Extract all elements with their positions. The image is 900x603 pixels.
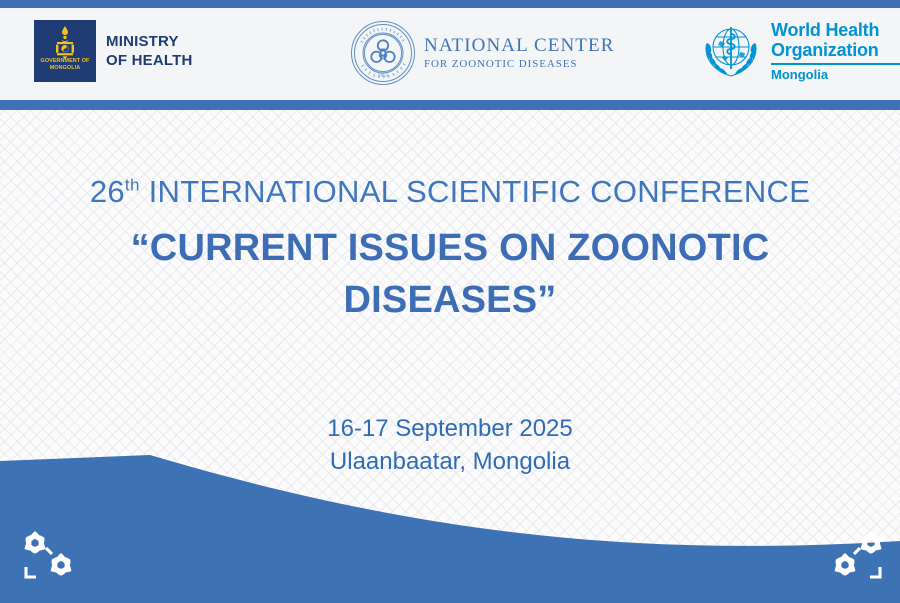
conference-theme-line-2: DISEASES” — [0, 274, 900, 326]
triquetra-knot-icon — [24, 533, 73, 577]
logo-national-center-zoonotic-diseases: 1951 NATIONAL CENTER FOR ZOONOTIC DISEAS… — [350, 20, 614, 86]
ornament-bottom-right — [812, 524, 892, 586]
ncz-name-line-2: FOR ZOONOTIC DISEASES — [424, 57, 614, 71]
who-name-line-1: World Health — [771, 20, 900, 40]
conference-edition-number: 26 — [90, 174, 125, 209]
ncz-name-line-1: NATIONAL CENTER — [424, 35, 614, 57]
ornament-bottom-left — [14, 524, 94, 586]
conference-subtitle-rest: INTERNATIONAL SCIENTIFIC CONFERENCE — [140, 174, 810, 209]
ministry-name-line-1: MINISTRY — [106, 32, 193, 51]
conference-subtitle-line: 26th INTERNATIONAL SCIENTIFIC CONFERENCE — [0, 172, 900, 212]
conference-date: 16-17 September 2025 — [0, 412, 900, 445]
who-emblem-icon — [700, 22, 762, 80]
conference-title-block: 26th INTERNATIONAL SCIENTIFIC CONFERENCE… — [0, 172, 900, 326]
who-divider — [771, 63, 900, 65]
seal-year: 1951 — [378, 73, 389, 79]
national-center-name: NATIONAL CENTER FOR ZOONOTIC DISEASES — [424, 35, 614, 71]
header-accent-rule — [0, 100, 900, 110]
biohazard-seal-icon: 1951 — [350, 20, 416, 86]
ministry-of-health-name: MINISTRY OF HEALTH — [106, 32, 193, 70]
mongolia-state-emblem: GOVERNMENT OF MONGOLIA — [34, 20, 96, 82]
logo-world-health-organization: World Health Organization Mongolia — [700, 20, 900, 82]
conference-theme-line-1: “CURRENT ISSUES ON ZOONOTIC — [0, 222, 900, 274]
ministry-name-line-2: OF HEALTH — [106, 51, 193, 70]
logo-ministry-of-health: GOVERNMENT OF MONGOLIA MINISTRY OF HEALT… — [34, 20, 193, 82]
who-name-line-2: Organization — [771, 40, 900, 60]
who-country-label: Mongolia — [771, 67, 900, 82]
who-name: World Health Organization Mongolia — [771, 20, 900, 82]
conference-title-slide: GOVERNMENT OF MONGOLIA MINISTRY OF HEALT… — [0, 0, 900, 603]
triquetra-knot-icon — [834, 533, 883, 577]
conference-edition-ordinal: th — [125, 176, 140, 195]
emblem-caption-text: GOVERNMENT OF MONGOLIA — [34, 58, 96, 72]
wave-main-band — [0, 455, 900, 603]
top-accent-rule — [0, 0, 900, 8]
bottom-wave-decoration — [0, 455, 900, 603]
